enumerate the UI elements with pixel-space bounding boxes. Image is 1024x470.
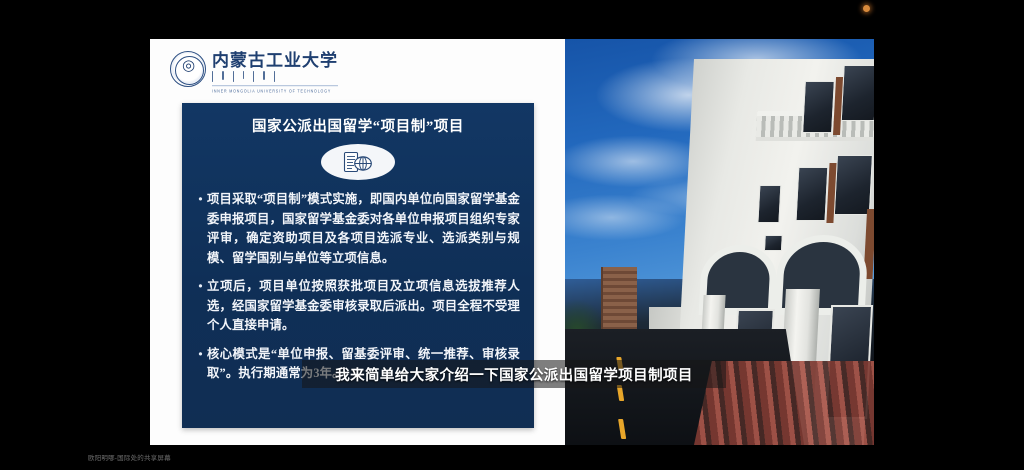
caption-text: 我来简单给大家介绍一下国家公派出国留学项目制项目: [335, 364, 693, 385]
document-globe-badge: [321, 144, 395, 180]
bullet-marker: •: [194, 345, 207, 364]
slide-title: 国家公派出国留学“项目制”项目: [182, 115, 534, 136]
mongolian-script-icon: [212, 71, 338, 82]
university-logo: ◎ 内蒙古工业大学 INNER MONGOLIA UNIVERSITY OF T…: [170, 51, 338, 92]
bullet-list: • 项目采取“项目制”模式实施，即国内单位向国家留学基金委申报项目，国家留学基金…: [194, 190, 520, 384]
live-caption-band: 我来简单给大家介绍一下国家公派出国留学项目制项目: [302, 360, 726, 388]
logo-text-block: 内蒙古工业大学 INNER MONGOLIA UNIVERSITY OF TEC…: [212, 51, 338, 92]
university-name-cn: 内蒙古工业大学: [212, 52, 338, 70]
bullet-marker: •: [194, 190, 207, 209]
bullet-marker: •: [194, 277, 207, 296]
document-globe-icon: [343, 151, 373, 174]
university-name-en: INNER MONGOLIA UNIVERSITY OF TECHNOLOGY: [212, 85, 338, 94]
bullet-text: 项目采取“项目制”模式实施，即国内单位向国家留学基金委申报项目，国家留学基金委对…: [207, 190, 520, 268]
screen-share-watermark: 欧阳明哪-国际处的共享屏幕: [88, 452, 171, 462]
list-item: • 项目采取“项目制”模式实施，即国内单位向国家留学基金委申报项目，国家留学基金…: [194, 190, 520, 268]
university-seal-icon: ◎: [170, 51, 206, 87]
screen-share-viewport: ◎ 内蒙古工业大学 INNER MONGOLIA UNIVERSITY OF T…: [0, 0, 1024, 470]
seal-glyph: ◎: [171, 59, 205, 74]
recording-indicator-dot: [863, 5, 870, 12]
bullet-text: 立项后，项目单位按照获批项目及立项信息选拔推荐人选，经国家留学基金委审核录取后派…: [207, 277, 520, 336]
list-item: • 立项后，项目单位按照获批项目及立项信息选拔推荐人选，经国家留学基金委审核录取…: [194, 277, 520, 336]
